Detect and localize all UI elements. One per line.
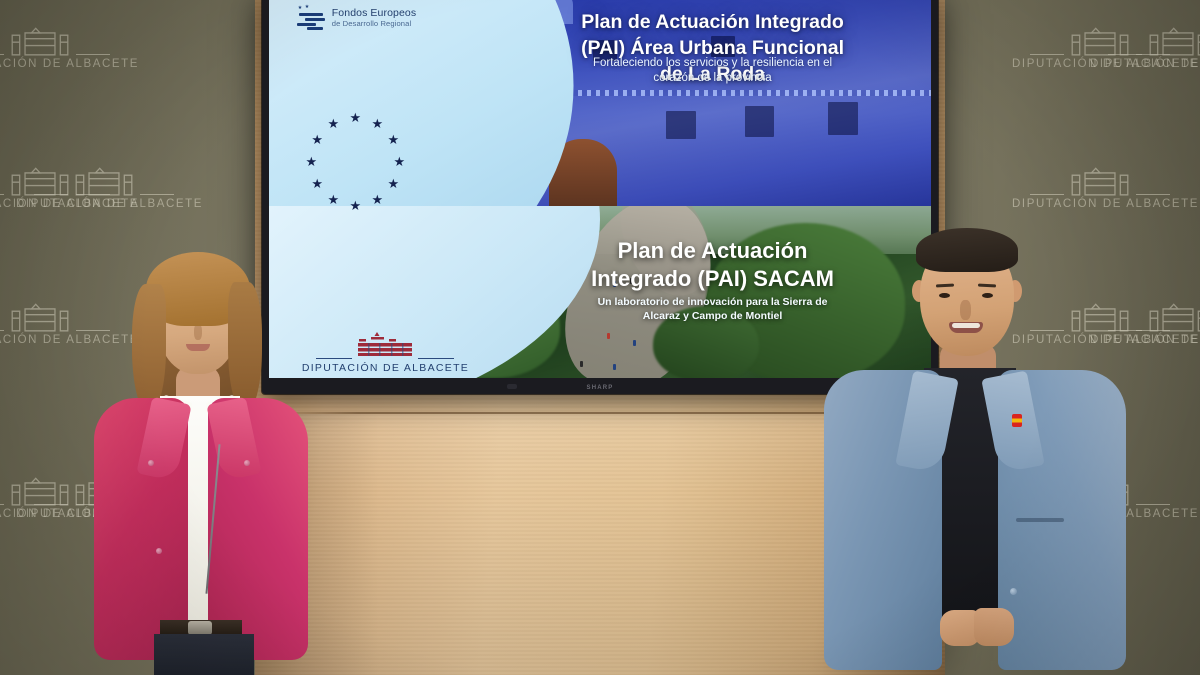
scene-vignette — [0, 0, 1200, 675]
press-room-scene: DIPUTACIÓN DE ALBACETEDIPUTACIÓN DE ALBA… — [0, 0, 1200, 675]
